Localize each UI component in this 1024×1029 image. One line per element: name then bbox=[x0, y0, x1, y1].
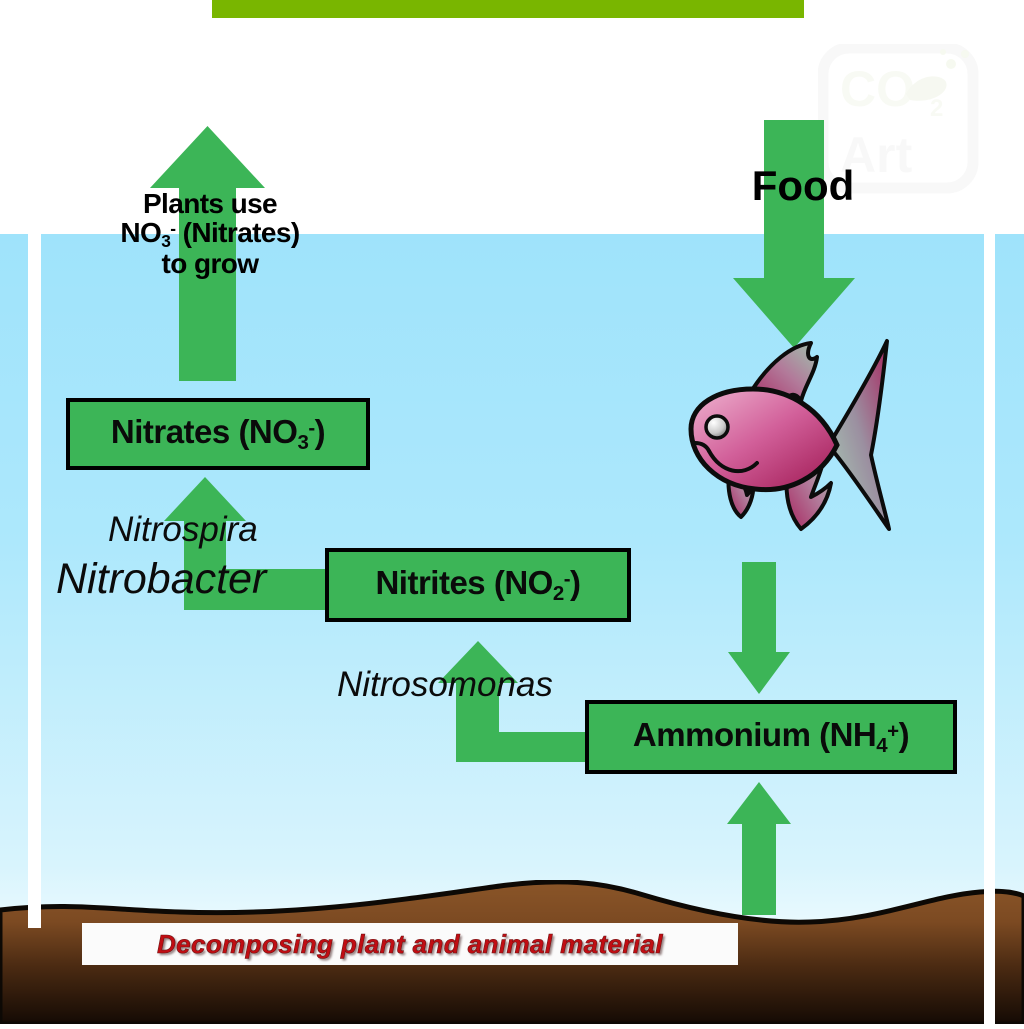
label-food: Food bbox=[718, 162, 888, 210]
fish-caudal-fin bbox=[833, 341, 889, 529]
decomposing-material-text: Decomposing plant and animal material bbox=[157, 929, 663, 960]
arrow-decomposition bbox=[727, 782, 791, 915]
nitrogen-cycle-diagram: CO 2 Art bbox=[0, 0, 1024, 1024]
plants-line-2: NO3- (Nitrates) bbox=[60, 219, 360, 251]
fish-eye bbox=[706, 416, 728, 438]
box-nitrites[interactable]: Nitrites (NO2-) bbox=[325, 548, 631, 622]
accent-bar-top bbox=[212, 0, 804, 18]
label-nitrobacter: Nitrobacter bbox=[56, 555, 266, 604]
box-nitrates[interactable]: Nitrates (NO3-) bbox=[66, 398, 370, 470]
arrow-fish-waste bbox=[728, 562, 790, 694]
tank-frame-left bbox=[28, 228, 41, 928]
fish-body bbox=[691, 389, 837, 490]
box-nitrates-label: Nitrates (NO3-) bbox=[111, 413, 325, 455]
box-ammonium-label: Ammonium (NH4+) bbox=[633, 716, 909, 758]
watermark-bubble-icon bbox=[940, 49, 946, 55]
plants-line-1: Plants use bbox=[60, 190, 360, 219]
box-nitrites-label: Nitrites (NO2-) bbox=[375, 564, 580, 606]
decomposing-material-banner: Decomposing plant and animal material bbox=[82, 923, 738, 965]
arrow-food-input bbox=[733, 120, 855, 348]
label-plants-use-nitrates: Plants use NO3- (Nitrates) to grow bbox=[60, 190, 360, 279]
label-nitrosomonas: Nitrosomonas bbox=[337, 665, 553, 705]
watermark-sub-text: 2 bbox=[930, 95, 943, 122]
watermark-bubble-icon bbox=[946, 59, 956, 69]
label-nitrospira: Nitrospira bbox=[108, 510, 258, 550]
plants-line-3: to grow bbox=[60, 250, 360, 279]
box-ammonium[interactable]: Ammonium (NH4+) bbox=[585, 700, 957, 774]
watermark-co-text: CO bbox=[840, 61, 915, 117]
fish-illustration bbox=[665, 333, 925, 568]
tank-frame-right bbox=[984, 228, 995, 1024]
watermark-bubble-icon bbox=[961, 50, 969, 58]
